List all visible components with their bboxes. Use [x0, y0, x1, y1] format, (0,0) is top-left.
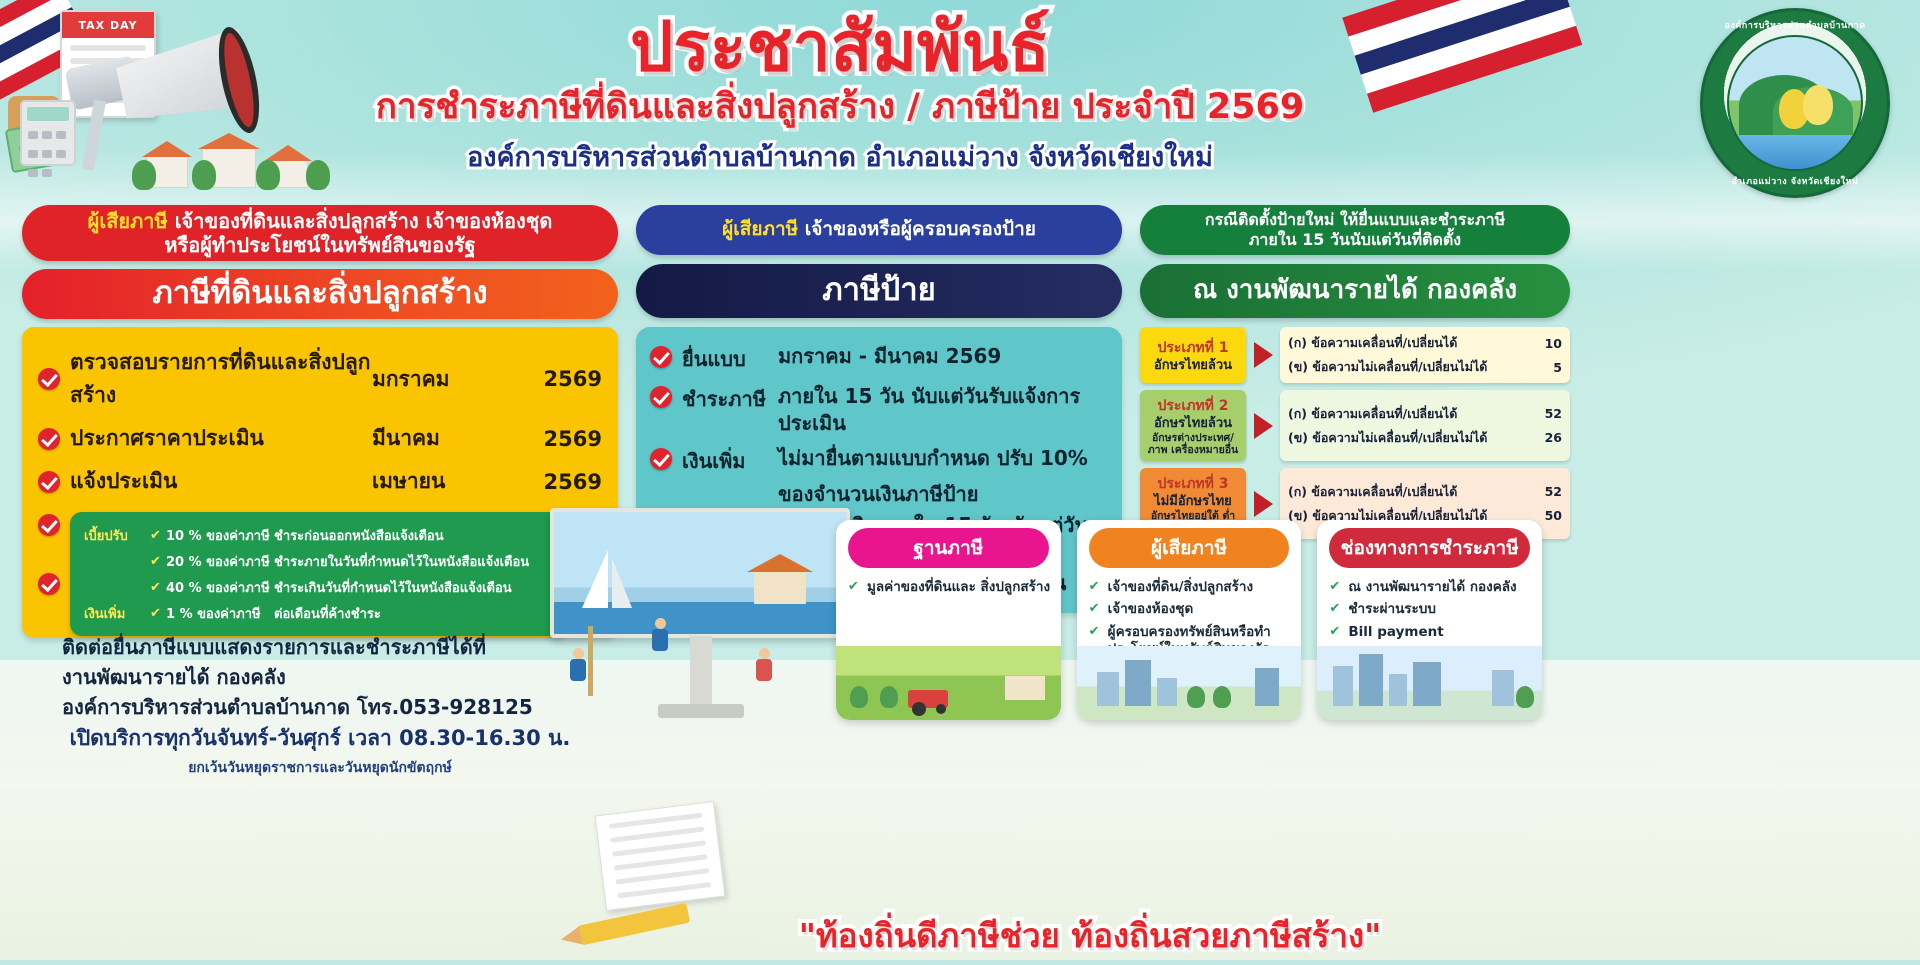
- penalty-description: ชำระก่อนออกหนังสือแจ้งเตือน: [274, 525, 556, 546]
- calculator-icon: [20, 100, 76, 166]
- left-taxpayer-line2: หรือผู้ทำประโยชน์ในทรัพย์สินของรัฐ: [164, 233, 475, 257]
- check-icon: ✔: [1329, 579, 1343, 595]
- list-item: ✔มูลค่าของที่ดินและ สิ่งปลูกสร้าง: [848, 576, 1051, 599]
- category-rates: (ก) ข้อความเคลื่อนที่/เปลี่ยนได้ 52 (ข) …: [1280, 390, 1570, 461]
- list-item: ชำระภาษี ภายใน 15 วัน นับแต่วันรับแจ้งกา…: [650, 379, 1108, 441]
- table-row: เงินเพิ่ม ✔ 1 % ของค่าภาษี ต่อเดือนที่ค้…: [84, 600, 556, 626]
- megaphone-tax-illustration: TAX DAY: [8, 4, 308, 194]
- contact-block: ติดต่อยื่นภาษีแบบแสดงรายการและชำระภาษีได…: [62, 632, 622, 722]
- card-payment-channels: ช่องทางการชำระภาษี ✔ณ งานพัฒนารายได้ กอง…: [1317, 520, 1542, 720]
- penalty-description: ชำระภายในวันที่กำหนดไว้ในหนังสือแจ้งเตือ…: [274, 551, 556, 572]
- list-item: ยื่นแบบ มกราคม - มีนาคม 2569: [650, 339, 1108, 379]
- arrow-right-icon: [1246, 390, 1280, 461]
- card-title: ฐานภาษี: [848, 528, 1049, 568]
- skyline-scene-illustration: [1317, 646, 1542, 720]
- poster-root: องค์การบริหารส่วนตำบลบ้านกาด อำเภอแม่วาง…: [0, 0, 1920, 960]
- check-icon: ✔: [150, 606, 166, 621]
- schedule-month: มกราคม: [372, 363, 540, 396]
- category-desc-small: อักษรต่างประเทศ/ภาพ เครื่องหมายอื่น: [1144, 432, 1242, 456]
- rate-label: (ก) ข้อความเคลื่อนที่/เปลี่ยนได้: [1288, 404, 1528, 424]
- check-icon: [38, 368, 60, 390]
- category-title: ประเภทที่ 1: [1144, 337, 1242, 359]
- info-cards: ฐานภาษี ✔มูลค่าของที่ดินและ สิ่งปลูกสร้า…: [836, 520, 1542, 720]
- village-houses-illustration: [128, 122, 318, 194]
- rate-row: (ก) ข้อความเคลื่อนที่/เปลี่ยนได้ 52: [1288, 402, 1562, 426]
- schedule-label: แจ้งประเมิน: [70, 465, 372, 498]
- rate-value: 10: [1528, 336, 1562, 351]
- list-item-label: ชำระผ่านระบบ: [1348, 601, 1436, 619]
- card-list: ✔มูลค่าของที่ดินและ สิ่งปลูกสร้าง: [848, 576, 1051, 599]
- schedule-month: เมษายน: [372, 465, 540, 498]
- rate-row: (ข) ข้อความไม่เคลื่อนที่/เปลี่ยนไม่ได้ 5: [1288, 355, 1562, 379]
- worker-figure: [652, 618, 668, 652]
- header: ประชาสัมพันธ์ การชำระภาษีที่ดินและสิ่งปล…: [300, 0, 1380, 178]
- schedule-year: 2569: [540, 367, 602, 391]
- rate-value: 5: [1528, 360, 1562, 375]
- document-illustration: [595, 801, 726, 911]
- card-title: ผู้เสียภาษี: [1089, 528, 1290, 568]
- table-row: แจ้งประเมิน เมษายน 2569: [38, 460, 602, 503]
- signboard-key: ชำระภาษี: [682, 383, 778, 415]
- mid-taxpayer-banner: ผู้เสียภาษี เจ้าของหรือผู้ครอบครองป้าย: [636, 205, 1122, 255]
- list-item: ✔ชำระผ่านระบบ: [1329, 599, 1532, 622]
- check-icon: ✔: [1089, 579, 1103, 595]
- signboard-value: มกราคม - มีนาคม 2569: [778, 343, 1108, 370]
- schedule-label: ตรวจสอบรายการที่ดินและสิ่งปลูกสร้าง: [70, 346, 372, 412]
- category-rates: (ก) ข้อความเคลื่อนที่/เปลี่ยนได้ 10 (ข) …: [1280, 327, 1570, 383]
- seal-emblem: [1727, 35, 1863, 171]
- mid-taxpayer-highlight: ผู้เสียภาษี: [722, 218, 798, 240]
- check-icon: [650, 386, 672, 408]
- penalty-percent: 1 % ของค่าภาษี: [166, 603, 274, 624]
- rate-label: (ข) ข้อความไม่เคลื่อนที่/เปลี่ยนไม่ได้: [1288, 428, 1528, 448]
- sign-category-box: ประเภทที่ 2 อักษรไทยล้วน อักษรต่างประเทศ…: [1140, 390, 1246, 461]
- right-section-title: ณ งานพัฒนารายได้ กองคลัง: [1140, 264, 1570, 318]
- check-icon: [38, 573, 60, 595]
- rate-label: (ก) ข้อความเคลื่อนที่/เปลี่ยนได้: [1288, 482, 1528, 502]
- schedule-year: 2569: [540, 470, 602, 494]
- signboard-value: ภายใน 15 วัน นับแต่วันรับแจ้งการประเมิน: [778, 383, 1108, 437]
- signboard-value: ไม่มายื่นตามแบบกำหนด ปรับ 10%: [778, 445, 1108, 472]
- check-icon: ✔: [1089, 624, 1103, 640]
- check-icon: ✔: [1329, 624, 1343, 640]
- check-icon: ✔: [1329, 601, 1343, 617]
- signboard-key: ยื่นแบบ: [682, 343, 778, 375]
- table-row: เบี้ยปรับ ✔ 10 % ของค่าภาษี ชำระก่อนออกห…: [84, 522, 556, 548]
- rate-value: 52: [1528, 484, 1562, 499]
- penalty-description: ต่อเดือนที่ค้างชำระ: [274, 603, 556, 624]
- penalty-group-label: เงินเพิ่ม: [84, 603, 150, 624]
- signboard-key: เงินเพิ่ม: [682, 445, 778, 477]
- penalty-rates-panel: เบี้ยปรับ ✔ 10 % ของค่าภาษี ชำระก่อนออกห…: [70, 512, 570, 636]
- list-item: เงินเพิ่ม ไม่มายื่นตามแบบกำหนด ปรับ 10%: [650, 441, 1108, 481]
- penalty-description: ชำระเกินวันที่กำหนดไว้ในหนังสือแจ้งเตือน: [274, 577, 556, 598]
- rate-value: 52: [1528, 406, 1562, 421]
- rate-row: (ก) ข้อความเคลื่อนที่/เปลี่ยนได้ 10: [1288, 331, 1562, 355]
- table-row: ✔ 40 % ของค่าภาษี ชำระเกินวันที่กำหนดไว้…: [84, 574, 556, 600]
- list-item: ✔ณ งานพัฒนารายได้ กองคลัง: [1329, 576, 1532, 599]
- office-hours: เปิดบริการทุกวันจันทร์-วันศุกร์ เวลา 08.…: [60, 722, 580, 755]
- table-row: ประเภทที่ 2 อักษรไทยล้วน อักษรต่างประเทศ…: [1140, 390, 1570, 461]
- schedule-month: มีนาคม: [372, 422, 540, 455]
- new-sign-notice-banner: กรณีติดตั้งป้ายใหม่ ให้ยื่นแบบและชำระภาษ…: [1140, 205, 1570, 255]
- list-item-label: Bill payment: [1348, 624, 1443, 642]
- organization-name: องค์การบริหารส่วนตำบลบ้านกาด อำเภอแม่วาง…: [300, 135, 1380, 178]
- card-title: ช่องทางการชำระภาษี: [1329, 528, 1530, 568]
- check-icon: ✔: [1089, 601, 1103, 617]
- tax-day-label: TAX DAY: [62, 12, 154, 38]
- list-item: ✔เจ้าของที่ดิน/สิ่งปลูกสร้าง: [1089, 576, 1292, 599]
- table-row: ตรวจสอบรายการที่ดินและสิ่งปลูกสร้าง มกรา…: [38, 341, 602, 417]
- page-subtitle: การชำระภาษีที่ดินและสิ่งปลูกสร้าง / ภาษี…: [300, 88, 1380, 127]
- rate-label: (ข) ข้อความไม่เคลื่อนที่/เปลี่ยนไม่ได้: [1288, 357, 1528, 377]
- check-icon: [38, 471, 60, 493]
- left-section-title: ภาษีที่ดินและสิ่งปลูกสร้าง: [22, 269, 618, 319]
- rate-row: (ก) ข้อความเคลื่อนที่/เปลี่ยนได้ 52: [1288, 480, 1562, 504]
- check-icon: [650, 346, 672, 368]
- arrow-right-icon: [1246, 327, 1280, 383]
- category-desc: อักษรไทยล้วน: [1144, 417, 1242, 432]
- rate-value: 26: [1528, 430, 1562, 445]
- table-row: ✔ 20 % ของค่าภาษี ชำระภายในวันที่กำหนดไว…: [84, 548, 556, 574]
- farm-scene-illustration: [836, 646, 1061, 720]
- penalty-group-label: เบี้ยปรับ: [84, 525, 150, 546]
- list-item-label: มูลค่าของที่ดินและ สิ่งปลูกสร้าง: [867, 579, 1050, 597]
- list-item: ✔Bill payment: [1329, 621, 1532, 644]
- seal-top-text: องค์การบริหารส่วนตำบลบ้านกาด: [1703, 18, 1887, 32]
- municipality-seal: องค์การบริหารส่วนตำบลบ้านกาด อำเภอแม่วาง…: [1700, 8, 1890, 198]
- penalty-percent: 10 % ของค่าภาษี: [166, 525, 274, 546]
- list-item-label: ณ งานพัฒนารายได้ กองคลัง: [1348, 579, 1516, 597]
- left-taxpayer-line1: เจ้าของที่ดินและสิ่งปลูกสร้าง เจ้าของห้อ…: [175, 209, 553, 233]
- check-icon: [38, 514, 60, 536]
- office-hours-block: เปิดบริการทุกวันจันทร์-วันศุกร์ เวลา 08.…: [60, 722, 580, 779]
- mid-taxpayer-text: เจ้าของหรือผู้ครอบครองป้าย: [805, 218, 1036, 240]
- page-title: ประชาสัมพันธ์: [300, 14, 1380, 82]
- category-title: ประเภทที่ 3: [1144, 473, 1242, 495]
- check-icon: [38, 428, 60, 450]
- schedule-year: 2569: [540, 427, 602, 451]
- sign-category-box: ประเภทที่ 1 อักษรไทยล้วน: [1140, 327, 1246, 383]
- signboard-rates-column: กรณีติดตั้งป้ายใหม่ ให้ยื่นแบบและชำระภาษ…: [1140, 205, 1570, 546]
- card-tax-base: ฐานภาษี ✔มูลค่าของที่ดินและ สิ่งปลูกสร้า…: [836, 520, 1061, 720]
- seal-bottom-text: อำเภอแม่วาง จังหวัดเชียงใหม่: [1703, 174, 1887, 188]
- sign-category-table: ประเภทที่ 1 อักษรไทยล้วน (ก) ข้อความเคลื…: [1140, 327, 1570, 539]
- check-icon: ✔: [150, 580, 166, 595]
- category-desc: อักษรไทยล้วน: [1144, 359, 1242, 374]
- new-sign-notice-line2: ภายใน 15 วันนับแต่วันที่ติดตั้ง: [1249, 230, 1461, 249]
- check-icon: [650, 448, 672, 470]
- mid-section-title: ภาษีป้าย: [636, 264, 1122, 318]
- check-icon: ✔: [848, 579, 862, 595]
- category-desc: ไม่มีอักษรไทย: [1144, 495, 1242, 510]
- rate-label: (ก) ข้อความเคลื่อนที่/เปลี่ยนได้: [1288, 333, 1528, 353]
- penalty-percent: 20 % ของค่าภาษี: [166, 551, 274, 572]
- list-item: ✔เจ้าของห้องชุด: [1089, 599, 1292, 622]
- ladder-icon: [588, 626, 593, 696]
- rate-row: (ข) ข้อความไม่เคลื่อนที่/เปลี่ยนไม่ได้ 2…: [1288, 426, 1562, 450]
- thai-flag-ribbon-right: [1342, 0, 1598, 160]
- city-scene-illustration: [1077, 646, 1302, 720]
- office-hours-note: ยกเว้นวันหยุดราชการและวันหยุดนักขัตฤกษ์: [60, 757, 580, 779]
- contact-line-1: ติดต่อยื่นภาษีแบบแสดงรายการและชำระภาษีได…: [62, 632, 622, 662]
- worker-figure: [570, 648, 586, 682]
- left-taxpayer-highlight: ผู้เสียภาษี: [88, 209, 168, 233]
- contact-line-3: องค์การบริหารส่วนตำบลบ้านกาด โทร.053-928…: [62, 692, 622, 722]
- penalty-percent: 40 % ของค่าภาษี: [166, 577, 274, 598]
- card-taxpayer: ผู้เสียภาษี ✔เจ้าของที่ดิน/สิ่งปลูกสร้าง…: [1077, 520, 1302, 720]
- list-item-label: เจ้าของห้องชุด: [1108, 601, 1194, 619]
- bottom-slogan: "ท้องถิ่นดีภาษีช่วย ท้องถิ่นสวยภาษีสร้าง…: [640, 918, 1540, 954]
- list-item-label: เจ้าของที่ดิน/สิ่งปลูกสร้าง: [1108, 579, 1253, 597]
- billboard-base: [658, 704, 744, 718]
- billboard-post: [690, 636, 712, 712]
- card-list: ✔ณ งานพัฒนารายได้ กองคลัง ✔ชำระผ่านระบบ …: [1329, 576, 1532, 644]
- schedule-label: ประกาศราคาประเมิน: [70, 422, 372, 455]
- contact-line-2: งานพัฒนารายได้ กองคลัง: [62, 662, 622, 692]
- table-row: ประเภทที่ 1 อักษรไทยล้วน (ก) ข้อความเคลื…: [1140, 327, 1570, 383]
- billboard-illustration: [540, 498, 860, 728]
- table-row: ประกาศราคาประเมิน มีนาคม 2569: [38, 417, 602, 460]
- left-taxpayer-banner: ผู้เสียภาษี เจ้าของที่ดินและสิ่งปลูกสร้า…: [22, 205, 618, 261]
- check-icon: ✔: [150, 528, 166, 543]
- worker-figure: [756, 648, 772, 682]
- check-icon: ✔: [150, 554, 166, 569]
- category-title: ประเภทที่ 2: [1144, 395, 1242, 417]
- new-sign-notice-line1: กรณีติดตั้งป้ายใหม่ ให้ยื่นแบบและชำระภาษ…: [1205, 210, 1505, 229]
- billboard-panel: [550, 508, 850, 638]
